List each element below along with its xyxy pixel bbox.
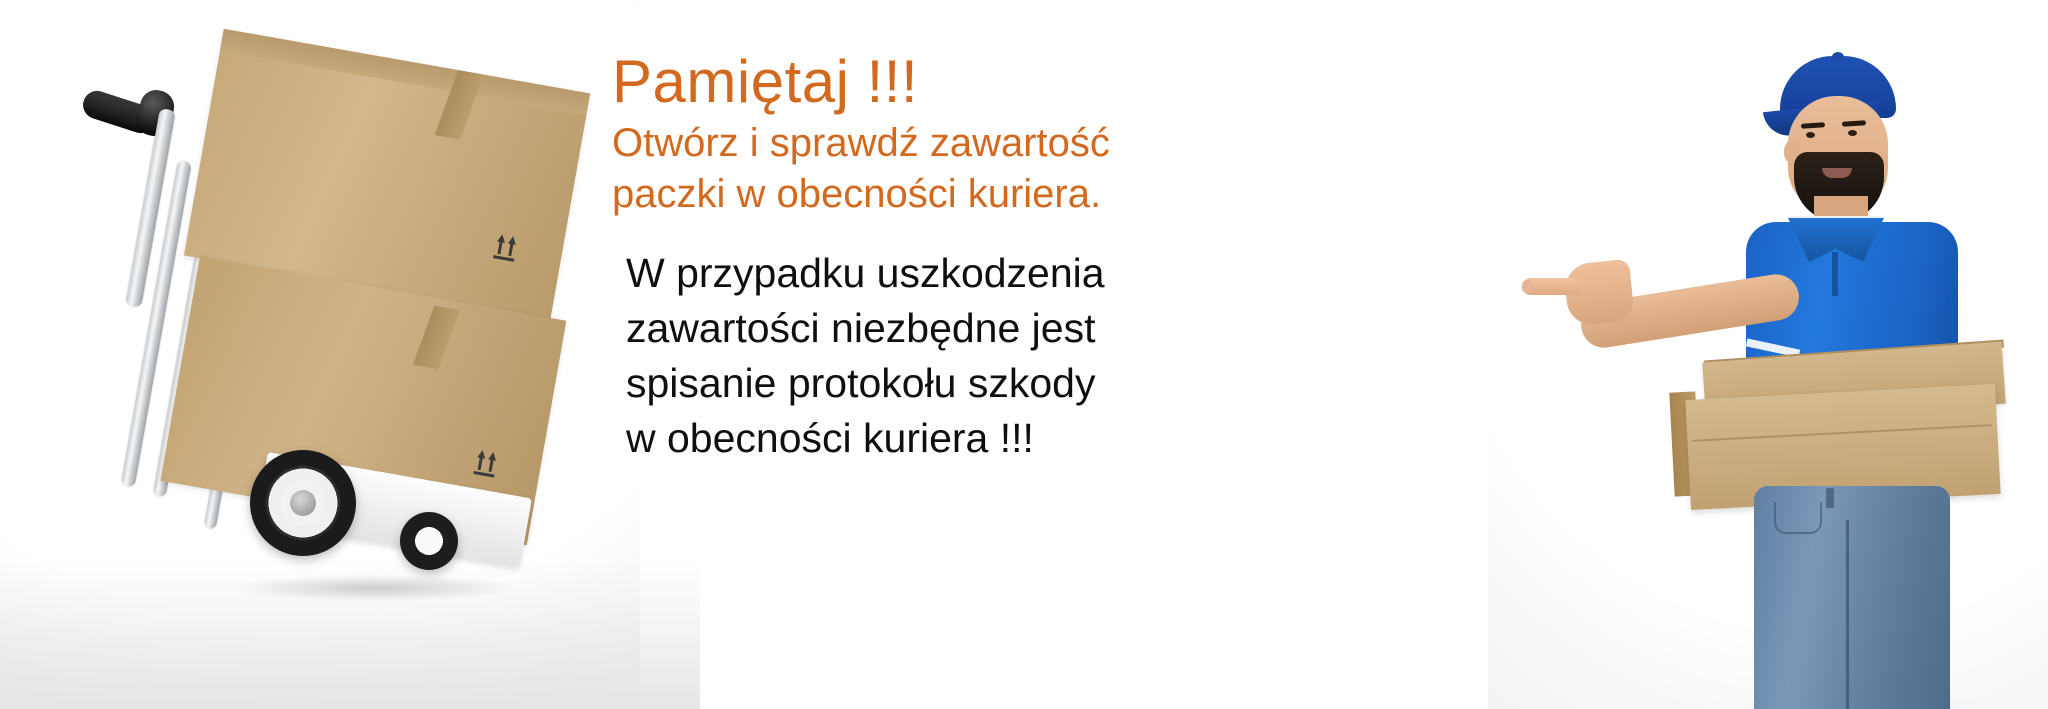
hand-truck-caster-wheel bbox=[400, 512, 458, 570]
this-way-up-icon bbox=[468, 445, 505, 484]
hand-truck-ground-shadow bbox=[235, 575, 515, 601]
body-line-2: zawartości niezbędne jest bbox=[612, 301, 1172, 356]
cap-button bbox=[1832, 52, 1844, 62]
jeans-belt-loop bbox=[1826, 488, 1834, 508]
body-line-1: W przypadku uszkodzenia bbox=[612, 246, 1172, 301]
courier-fingernail bbox=[1522, 280, 1532, 293]
courier-illustration bbox=[1488, 0, 2048, 709]
courier-eye-left bbox=[1806, 132, 1815, 138]
this-way-up-icon bbox=[487, 229, 524, 268]
subhead-line-1: Otwórz i sprawdź zawartość bbox=[612, 118, 1172, 169]
jeans-seam bbox=[1846, 520, 1849, 709]
body-text-block: W przypadku uszkodzenia zawartości niezb… bbox=[612, 246, 1172, 466]
courier-eye-right bbox=[1848, 130, 1857, 136]
polo-placket bbox=[1832, 252, 1838, 296]
hand-truck-wheel-hub bbox=[290, 490, 316, 516]
page-title: Pamiętaj !!! bbox=[612, 52, 1172, 112]
subhead-line-2: paczki w obecności kuriera. bbox=[612, 169, 1172, 220]
delivery-notice-banner: Pamiętaj !!! Otwórz i sprawdź zawartość … bbox=[0, 0, 2048, 709]
body-line-3: spisanie protokołu szkody bbox=[612, 356, 1172, 411]
hand-truck-illustration bbox=[60, 50, 600, 670]
body-line-4: w obecności kuriera !!! bbox=[612, 411, 1172, 466]
notice-text-block: Pamiętaj !!! Otwórz i sprawdź zawartość … bbox=[612, 52, 1172, 466]
jeans-pocket bbox=[1774, 502, 1822, 534]
